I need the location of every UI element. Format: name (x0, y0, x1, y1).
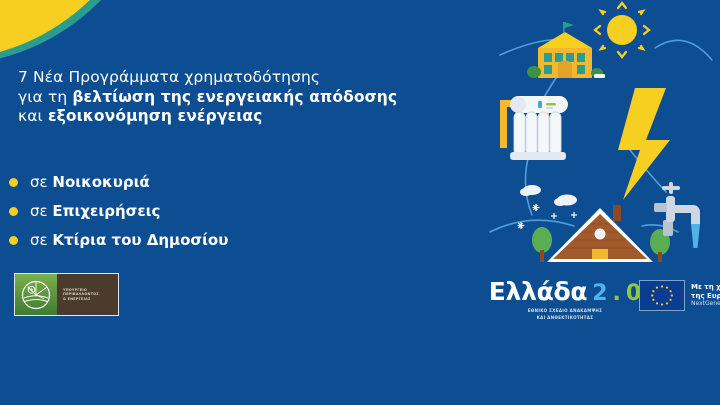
bullet-prefix: σε (30, 173, 52, 191)
promotional-banner: 7 Νέα Προγράμματα χρηματοδότησης για τη … (0, 0, 720, 405)
bush-icon (527, 66, 541, 78)
bullet-bold: Κτίρια του Δημοσίου (52, 231, 228, 249)
eu-text-line-3: NextGene (691, 300, 720, 308)
eu-text-line-2: της Ευρω (691, 292, 720, 301)
list-item: σε Νοικοκυριά (9, 168, 359, 197)
headline-line-1: 7 Νέα Προγράμματα χρηματοδότησης (18, 68, 320, 86)
bullet-prefix: σε (30, 231, 52, 249)
bullet-label: σε Επιχειρήσεις (30, 203, 160, 220)
cabin-house-icon (532, 205, 670, 262)
bullet-dot-icon (9, 236, 18, 245)
ministry-name-panel: ΥΠΟΥΡΓΕΙΟ ΠΕΡΙΒΑΛΛΟΝΤΟΣ & ΕΝΕΡΓΕΙΑΣ (57, 274, 118, 315)
bullet-prefix: σε (30, 202, 52, 220)
ministry-line-3: & ΕΝΕΡΓΕΙΑΣ (63, 297, 118, 302)
ellada-subtitle-line-2: ΚΑΙ ΑΝΘΕΚΤΙΚΟΤΗΤΑΣ (505, 315, 625, 320)
list-item: σε Κτίρια του Δημοσίου (9, 226, 359, 255)
eu-stars-icon (640, 281, 684, 310)
water-stream-icon (691, 224, 700, 248)
illustration-svg (470, 0, 720, 285)
ministry-logo: ΥΠΟΥΡΓΕΙΟ ΠΕΡΙΒΑΛΛΟΝΤΟΣ & ΕΝΕΡΓΕΙΑΣ (14, 273, 119, 316)
headline-line-2-bold: βελτίωση της ενεργειακής απόδοσης (72, 88, 397, 106)
bullet-label: σε Νοικοκυριά (30, 174, 150, 191)
ellada-subtitle-line-1: ΕΘΝΙΚΟ ΣΧΕΔΙΟ ΑΝΑΚΑΜΨΗΣ (505, 308, 625, 313)
headline-line-3-bold: εξοικονόμηση ενέργειας (48, 107, 262, 125)
page-title: 7 Νέα Προγράμματα χρηματοδότησης για τη … (18, 68, 418, 127)
public-building-icon (527, 22, 605, 78)
ministry-emblem-icon (21, 280, 51, 310)
bench-icon (594, 74, 605, 78)
headline-line-2-plain: για τη (18, 88, 72, 106)
bullet-bold: Νοικοκυριά (52, 173, 149, 191)
sun-icon (595, 3, 649, 57)
program-target-list: σε Νοικοκυριά σε Επιχειρήσεις σε Κτίρια … (9, 168, 359, 255)
snowflake-icon (518, 204, 578, 229)
bullet-dot-icon (9, 178, 18, 187)
headline-line-3-plain: και (18, 107, 48, 125)
solar-water-heater-icon (500, 96, 568, 160)
eu-funding-text: Με τη χρ της Ευρω NextGene (691, 283, 720, 308)
bullet-dot-icon (9, 207, 18, 216)
energy-illustration (470, 0, 720, 280)
bullet-label: σε Κτίρια του Δημοσίου (30, 232, 228, 249)
bullet-bold: Επιχειρήσεις (52, 202, 160, 220)
ministry-emblem-panel (15, 274, 57, 315)
cabin-door (592, 249, 608, 259)
list-item: σε Επιχειρήσεις (9, 197, 359, 226)
chimney-icon (613, 205, 621, 221)
lightning-bolt-icon (618, 88, 670, 200)
